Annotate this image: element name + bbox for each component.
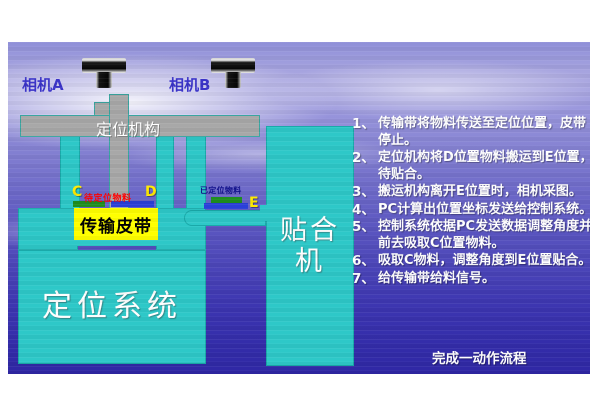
process-step-list: 1、 传输带将物料传送至定位位置，皮带停止。 2、 定位机构将D位置物料搬运到E… xyxy=(352,116,590,288)
camera-a-icon xyxy=(82,58,126,90)
step-item: 6、 吸取C物料，调整角度到E位置贴合。 xyxy=(352,253,590,270)
step-item: 7、 给传输带给料信号。 xyxy=(352,271,590,288)
material-chip-e-top xyxy=(211,197,242,203)
step-number: 1、 xyxy=(352,116,378,132)
diagram-canvas: 定位机构 C D 待定位物料 传输皮带 定位系统 已定位物料 E 贴合机 xyxy=(8,42,590,374)
step-text: 控制系统依据PC发送数据调整角度并前去吸取C位置物料。 xyxy=(378,219,590,252)
step-text: 定位机构将D位置物料搬运到E位置，待贴合。 xyxy=(378,150,590,183)
step-item: 1、 传输带将物料传送至定位位置，皮带停止。 xyxy=(352,116,590,149)
material-chip-e-base xyxy=(204,203,248,209)
positioning-system-label: 定位系统 xyxy=(42,290,182,325)
camera-b-body xyxy=(211,58,255,73)
step-item: 4、 PC计算出位置坐标发送给控制系统。 xyxy=(352,202,590,219)
step-number: 2、 xyxy=(352,150,378,166)
laminator-label: 贴合机 xyxy=(267,215,353,277)
material-to-position-label: 待定位物料 xyxy=(84,191,132,204)
step-text: 搬运机构离开E位置时，相机采图。 xyxy=(378,184,590,201)
camera-a-label: 相机A xyxy=(22,74,64,95)
marker-d-label: D xyxy=(145,185,157,199)
final-note: 完成一动作流程 xyxy=(432,347,527,367)
belt-support-lip xyxy=(74,240,158,246)
camera-a-body xyxy=(82,58,126,73)
e-stage-arm xyxy=(184,210,266,226)
frame-inner-leg xyxy=(156,130,174,210)
step-number: 7、 xyxy=(352,271,378,287)
step-text: 吸取C物料，调整角度到E位置贴合。 xyxy=(378,253,590,270)
laminator-connector-nub xyxy=(260,205,269,221)
step-text: 传输带将物料传送至定位位置，皮带停止。 xyxy=(378,116,590,149)
frame-base-left xyxy=(18,208,78,250)
positioning-system-box: 定位系统 xyxy=(18,250,206,364)
step-item: 3、 搬运机构离开E位置时，相机采图。 xyxy=(352,184,590,201)
step-text: 给传输带给料信号。 xyxy=(378,271,590,288)
step-number: 3、 xyxy=(352,184,378,200)
material-positioned-label: 已定位物料 xyxy=(200,185,242,196)
step-number: 6、 xyxy=(352,253,378,269)
screenshot-root: 定位机构 C D 待定位物料 传输皮带 定位系统 已定位物料 E 贴合机 xyxy=(0,0,600,420)
laminator-box: 贴合机 xyxy=(266,126,354,366)
camera-b-icon xyxy=(211,58,255,90)
step-number: 4、 xyxy=(352,202,378,218)
conveyor-belt-label: 传输皮带 xyxy=(80,212,152,237)
conveyor-belt: 传输皮带 xyxy=(74,208,158,240)
gantry-label: 定位机构 xyxy=(96,116,160,140)
camera-a-lens xyxy=(96,72,112,88)
camera-b-lens xyxy=(225,72,241,88)
marker-c-label: C xyxy=(72,185,82,199)
step-item: 2、 定位机构将D位置物料搬运到E位置，待贴合。 xyxy=(352,150,590,183)
marker-e-label: E xyxy=(249,196,259,210)
step-item: 5、 控制系统依据PC发送数据调整角度并前去吸取C位置物料。 xyxy=(352,219,590,252)
step-text: PC计算出位置坐标发送给控制系统。 xyxy=(378,202,590,219)
step-number: 5、 xyxy=(352,219,378,235)
camera-b-label: 相机B xyxy=(169,74,210,95)
